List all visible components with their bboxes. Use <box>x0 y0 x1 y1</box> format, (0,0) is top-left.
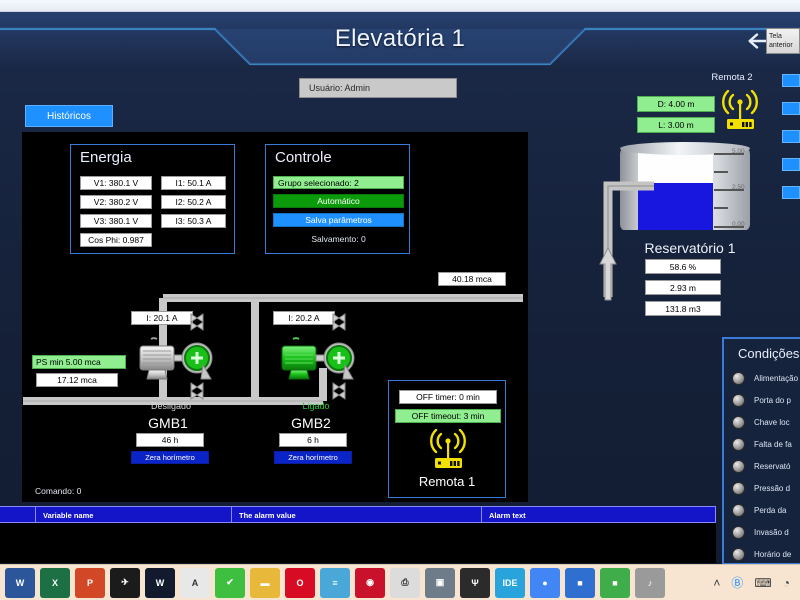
window-top-strip <box>0 0 800 12</box>
tank-tick-1 <box>714 171 728 173</box>
suction-pressure-field: 17.12 mca <box>36 373 118 387</box>
scada-green-icon[interactable]: ■ <box>600 568 630 598</box>
reservoir-percent-field: 58.6 % <box>645 259 721 274</box>
reservoir-volume-field: 131.8 m3 <box>645 301 721 316</box>
alarm-table-body[interactable] <box>0 523 716 563</box>
previous-screen-button[interactable]: Tela anterior <box>766 28 800 54</box>
voltage-v3-field: V3: 380.1 V <box>80 214 152 228</box>
system-tray: ˄Ⓑ⌨◔ <box>713 574 800 591</box>
remota1-off-timeout-field: OFF timeout: 3 min <box>395 409 501 423</box>
user-field[interactable]: Usuário: Admin <box>299 78 457 98</box>
condition-label: Falta de fa <box>754 440 792 449</box>
condition-lamp-icon <box>732 482 745 495</box>
page-title: Elevatória 1 <box>0 25 800 53</box>
riser-pipe <box>596 152 656 302</box>
pump1-state-label: Desligado <box>136 401 206 411</box>
condition-row: Invasão d <box>724 521 800 543</box>
condition-label: Pressão d <box>754 484 790 493</box>
opera-icon[interactable]: O <box>285 568 315 598</box>
condition-lamp-icon <box>732 504 745 517</box>
alarm-column-header[interactable]: Alarm text <box>482 507 716 522</box>
pump2-name: GMB2 <box>271 415 351 431</box>
condition-row: Alimentação <box>724 367 800 389</box>
right-quick-button-3[interactable] <box>782 130 800 143</box>
remota1-off-timer-field: OFF timer: 0 min <box>399 390 497 404</box>
current-i3-field: I3: 50.3 A <box>161 214 226 228</box>
controle-title: Controle <box>266 145 409 169</box>
energia-title: Energia <box>71 145 234 169</box>
condition-row: Chave loc <box>724 411 800 433</box>
condition-row: Perda da <box>724 499 800 521</box>
pump2-current-field: I: 20.2 A <box>273 311 335 325</box>
modo-automatico-button[interactable]: Automático <box>273 194 404 208</box>
reservoir-level-field: 2.93 m <box>645 280 721 295</box>
pump1-hourmeter-field: 46 h <box>136 433 204 447</box>
wifi-icon[interactable]: ◔ <box>783 576 790 590</box>
chevron-up-icon[interactable]: ˄ <box>713 576 720 590</box>
alarm-column-header[interactable]: The alarm value <box>232 507 482 522</box>
remota1-panel: OFF timer: 0 min OFF timeout: 3 min Remo… <box>388 380 506 498</box>
remota2-group: Remota 2 <box>700 72 800 83</box>
keyboard-icon[interactable]: ⌨ <box>754 576 771 590</box>
tank-scale-label-mid: 2.50 <box>732 184 745 191</box>
condition-lamp-icon <box>732 372 745 385</box>
taskbar-items: WXP✈WA✔▬O≡◉⎙▣ΨIDE●■■♪ <box>0 568 665 598</box>
condition-row: Horário de <box>724 543 800 564</box>
pump1-valve-bottom-icon <box>188 380 206 402</box>
condition-label: Perda da <box>754 506 786 515</box>
camera-icon[interactable]: ◉ <box>355 568 385 598</box>
condition-lamp-icon <box>732 526 745 539</box>
desktop: Elevatória 1 Tela anterior Usuário: Admi… <box>0 0 800 600</box>
right-quick-button-5[interactable] <box>782 186 800 199</box>
header-bar: Elevatória 1 Tela anterior <box>0 12 800 70</box>
voltage-v2-field: V2: 380.2 V <box>80 195 152 209</box>
current-i2-field: I2: 50.2 A <box>161 195 226 209</box>
printer-icon[interactable]: ⎙ <box>390 568 420 598</box>
grupo-selecionado-field: Grupo selecionado: 2 <box>273 176 404 189</box>
radio-antenna-icon <box>427 429 469 473</box>
condition-label: Invasão d <box>754 528 789 537</box>
usb-tool-icon[interactable]: Ψ <box>460 568 490 598</box>
pump1-assembly[interactable] <box>131 331 226 406</box>
pump2-hourmeter-field: 6 h <box>279 433 347 447</box>
ps-min-field: PS min 5.00 mca <box>32 355 126 369</box>
alarm-column-header[interactable] <box>0 507 36 522</box>
winrar-icon[interactable]: W <box>145 568 175 598</box>
condition-label: Alimentação <box>754 374 798 383</box>
remota1-title: Remota 1 <box>389 474 505 489</box>
pump2-assembly[interactable] <box>273 331 368 406</box>
remota2-distance-field: D: 4.00 m <box>637 96 715 112</box>
energia-panel: Energia V1: 380.1 V V2: 380.2 V V3: 380.… <box>70 144 235 254</box>
conditions-list: AlimentaçãoPorta do pChave locFalta de f… <box>724 367 800 564</box>
condition-lamp-icon <box>732 394 745 407</box>
folder-icon[interactable]: ▬ <box>250 568 280 598</box>
notepad-icon[interactable]: ≡ <box>320 568 350 598</box>
remota2-title: Remota 2 <box>700 72 764 83</box>
right-quick-button-2[interactable] <box>782 102 800 115</box>
pump1-name: GMB1 <box>128 415 208 431</box>
condition-lamp-icon <box>732 416 745 429</box>
cad-icon[interactable]: A <box>180 568 210 598</box>
pump1-valve-top-icon <box>188 311 206 333</box>
comando-label: Comando: 0 <box>35 486 81 496</box>
alarm-table: Variable nameThe alarm valueAlarm text <box>0 506 716 564</box>
right-quick-button-4[interactable] <box>782 158 800 171</box>
controle-panel: Controle Grupo selecionado: 2 Automático… <box>265 144 410 254</box>
condition-label: Reservató <box>754 462 790 471</box>
remota2-level-field: L: 3.00 m <box>637 117 715 133</box>
condition-label: Chave loc <box>754 418 790 427</box>
historicos-button[interactable]: Históricos <box>25 105 113 127</box>
conditions-panel: Condições AlimentaçãoPorta do pChave loc… <box>722 337 800 564</box>
taskbar: WXP✈WA✔▬O≡◉⎙▣ΨIDE●■■♪ ˄Ⓑ⌨◔ <box>0 564 800 600</box>
condition-row: Falta de fa <box>724 433 800 455</box>
condition-lamp-icon <box>732 460 745 473</box>
salva-parametros-button[interactable]: Salva parâmetros <box>273 213 404 227</box>
powerpoint-icon[interactable]: P <box>75 568 105 598</box>
ide-icon[interactable]: IDE <box>495 568 525 598</box>
pump2-valve-top-icon <box>330 311 348 333</box>
mute-icon[interactable]: ♪ <box>635 568 665 598</box>
alarm-table-header: Variable nameThe alarm valueAlarm text <box>0 506 716 523</box>
radio-antenna-icon <box>720 90 760 134</box>
tank-scale-label-bottom: 0.00 <box>732 221 745 228</box>
voltage-v1-field: V1: 380.1 V <box>80 176 152 190</box>
salvamento-label: Salvamento: 0 <box>273 234 404 244</box>
discharge-pressure-field: 40.18 mca <box>438 272 506 286</box>
condition-label: Porta do p <box>754 396 791 405</box>
chrome-icon[interactable]: ● <box>530 568 560 598</box>
alarm-column-header[interactable]: Variable name <box>36 507 232 522</box>
excel-icon[interactable]: X <box>40 568 70 598</box>
back-arrow-icon[interactable] <box>746 30 768 52</box>
hmi-application: Elevatória 1 Tela anterior Usuário: Admi… <box>0 12 800 564</box>
condition-row: Reservató <box>724 455 800 477</box>
pump2-reset-hourmeter-button[interactable]: Zera horímetro <box>274 451 352 464</box>
condition-lamp-icon <box>732 438 745 451</box>
conditions-title: Condições <box>724 339 800 367</box>
pump2-state-label: Ligado <box>281 401 351 411</box>
pump1-reset-hourmeter-button[interactable]: Zera horímetro <box>131 451 209 464</box>
condition-row: Pressão d <box>724 477 800 499</box>
word-icon[interactable]: W <box>5 568 35 598</box>
condition-row: Porta do p <box>724 389 800 411</box>
pump1-current-field: I: 20.1 A <box>131 311 193 325</box>
image-icon[interactable]: ▣ <box>425 568 455 598</box>
condition-lamp-icon <box>732 548 745 561</box>
bird-icon[interactable]: ✈ <box>110 568 140 598</box>
cos-phi-field: Cos Phi: 0.987 <box>80 233 152 247</box>
pump2-valve-bottom-icon <box>330 380 348 402</box>
bluetooth-icon[interactable]: Ⓑ <box>731 574 743 591</box>
tank-tick-2 <box>714 207 728 209</box>
scada-blue-icon[interactable]: ■ <box>565 568 595 598</box>
antivirus-icon[interactable]: ✔ <box>215 568 245 598</box>
tank-scale-label-top: 5.00 <box>732 148 745 155</box>
current-i1-field: I1: 50.1 A <box>161 176 226 190</box>
condition-label: Horário de <box>754 550 791 559</box>
